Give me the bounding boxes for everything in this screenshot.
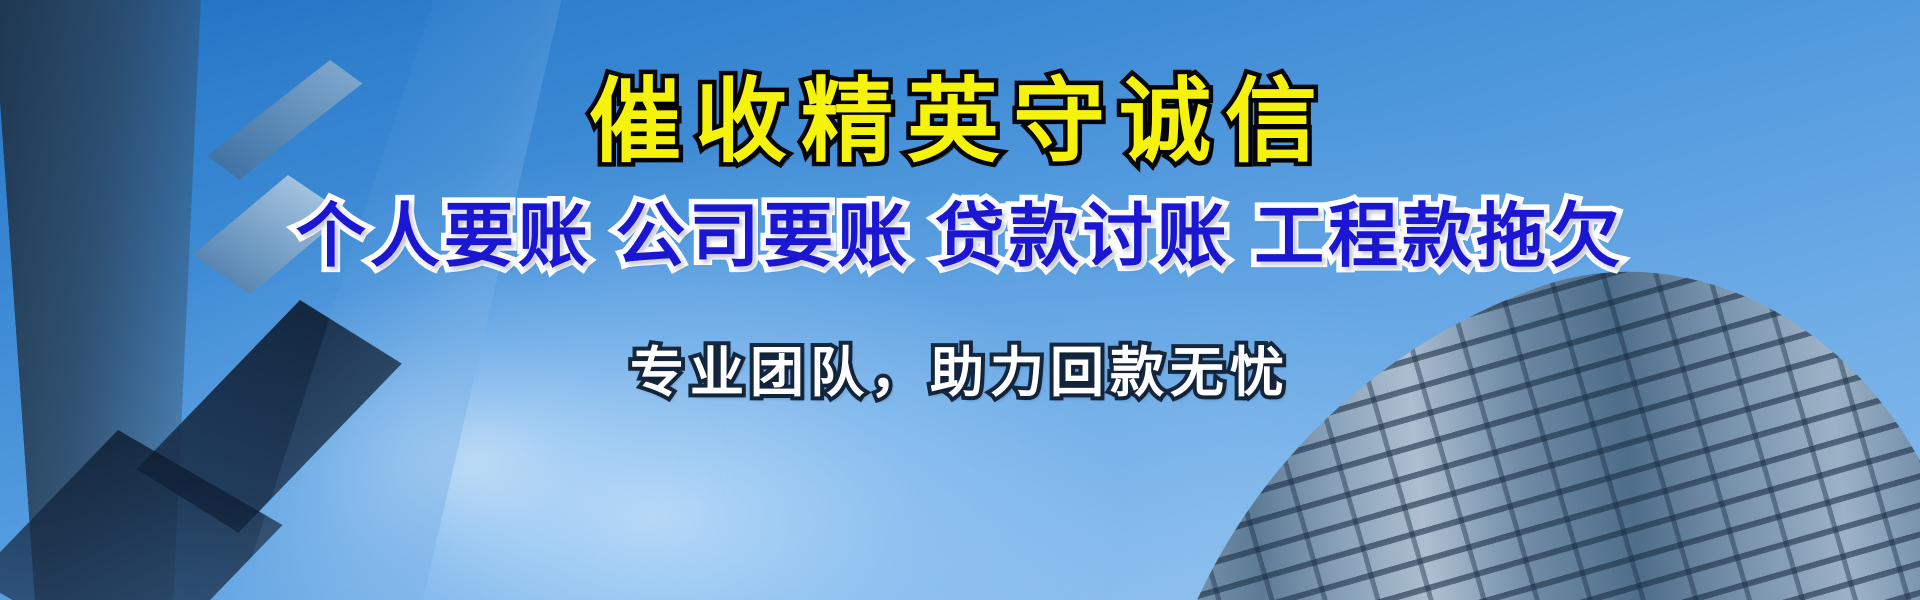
headline-primary: 催收精英守诚信	[0, 74, 1920, 171]
headline-tagline: 专业团队，助力回款无忧	[0, 345, 1920, 402]
promo-banner: 催收精英守诚信 个人要账 公司要账 贷款讨账 工程款拖欠 专业团队，助力回款无忧	[0, 0, 1920, 600]
banner-text-stack: 催收精英守诚信 个人要账 公司要账 贷款讨账 工程款拖欠 专业团队，助力回款无忧	[0, 0, 1920, 600]
headline-service-list: 个人要账 公司要账 贷款讨账 工程款拖欠	[0, 199, 1920, 273]
